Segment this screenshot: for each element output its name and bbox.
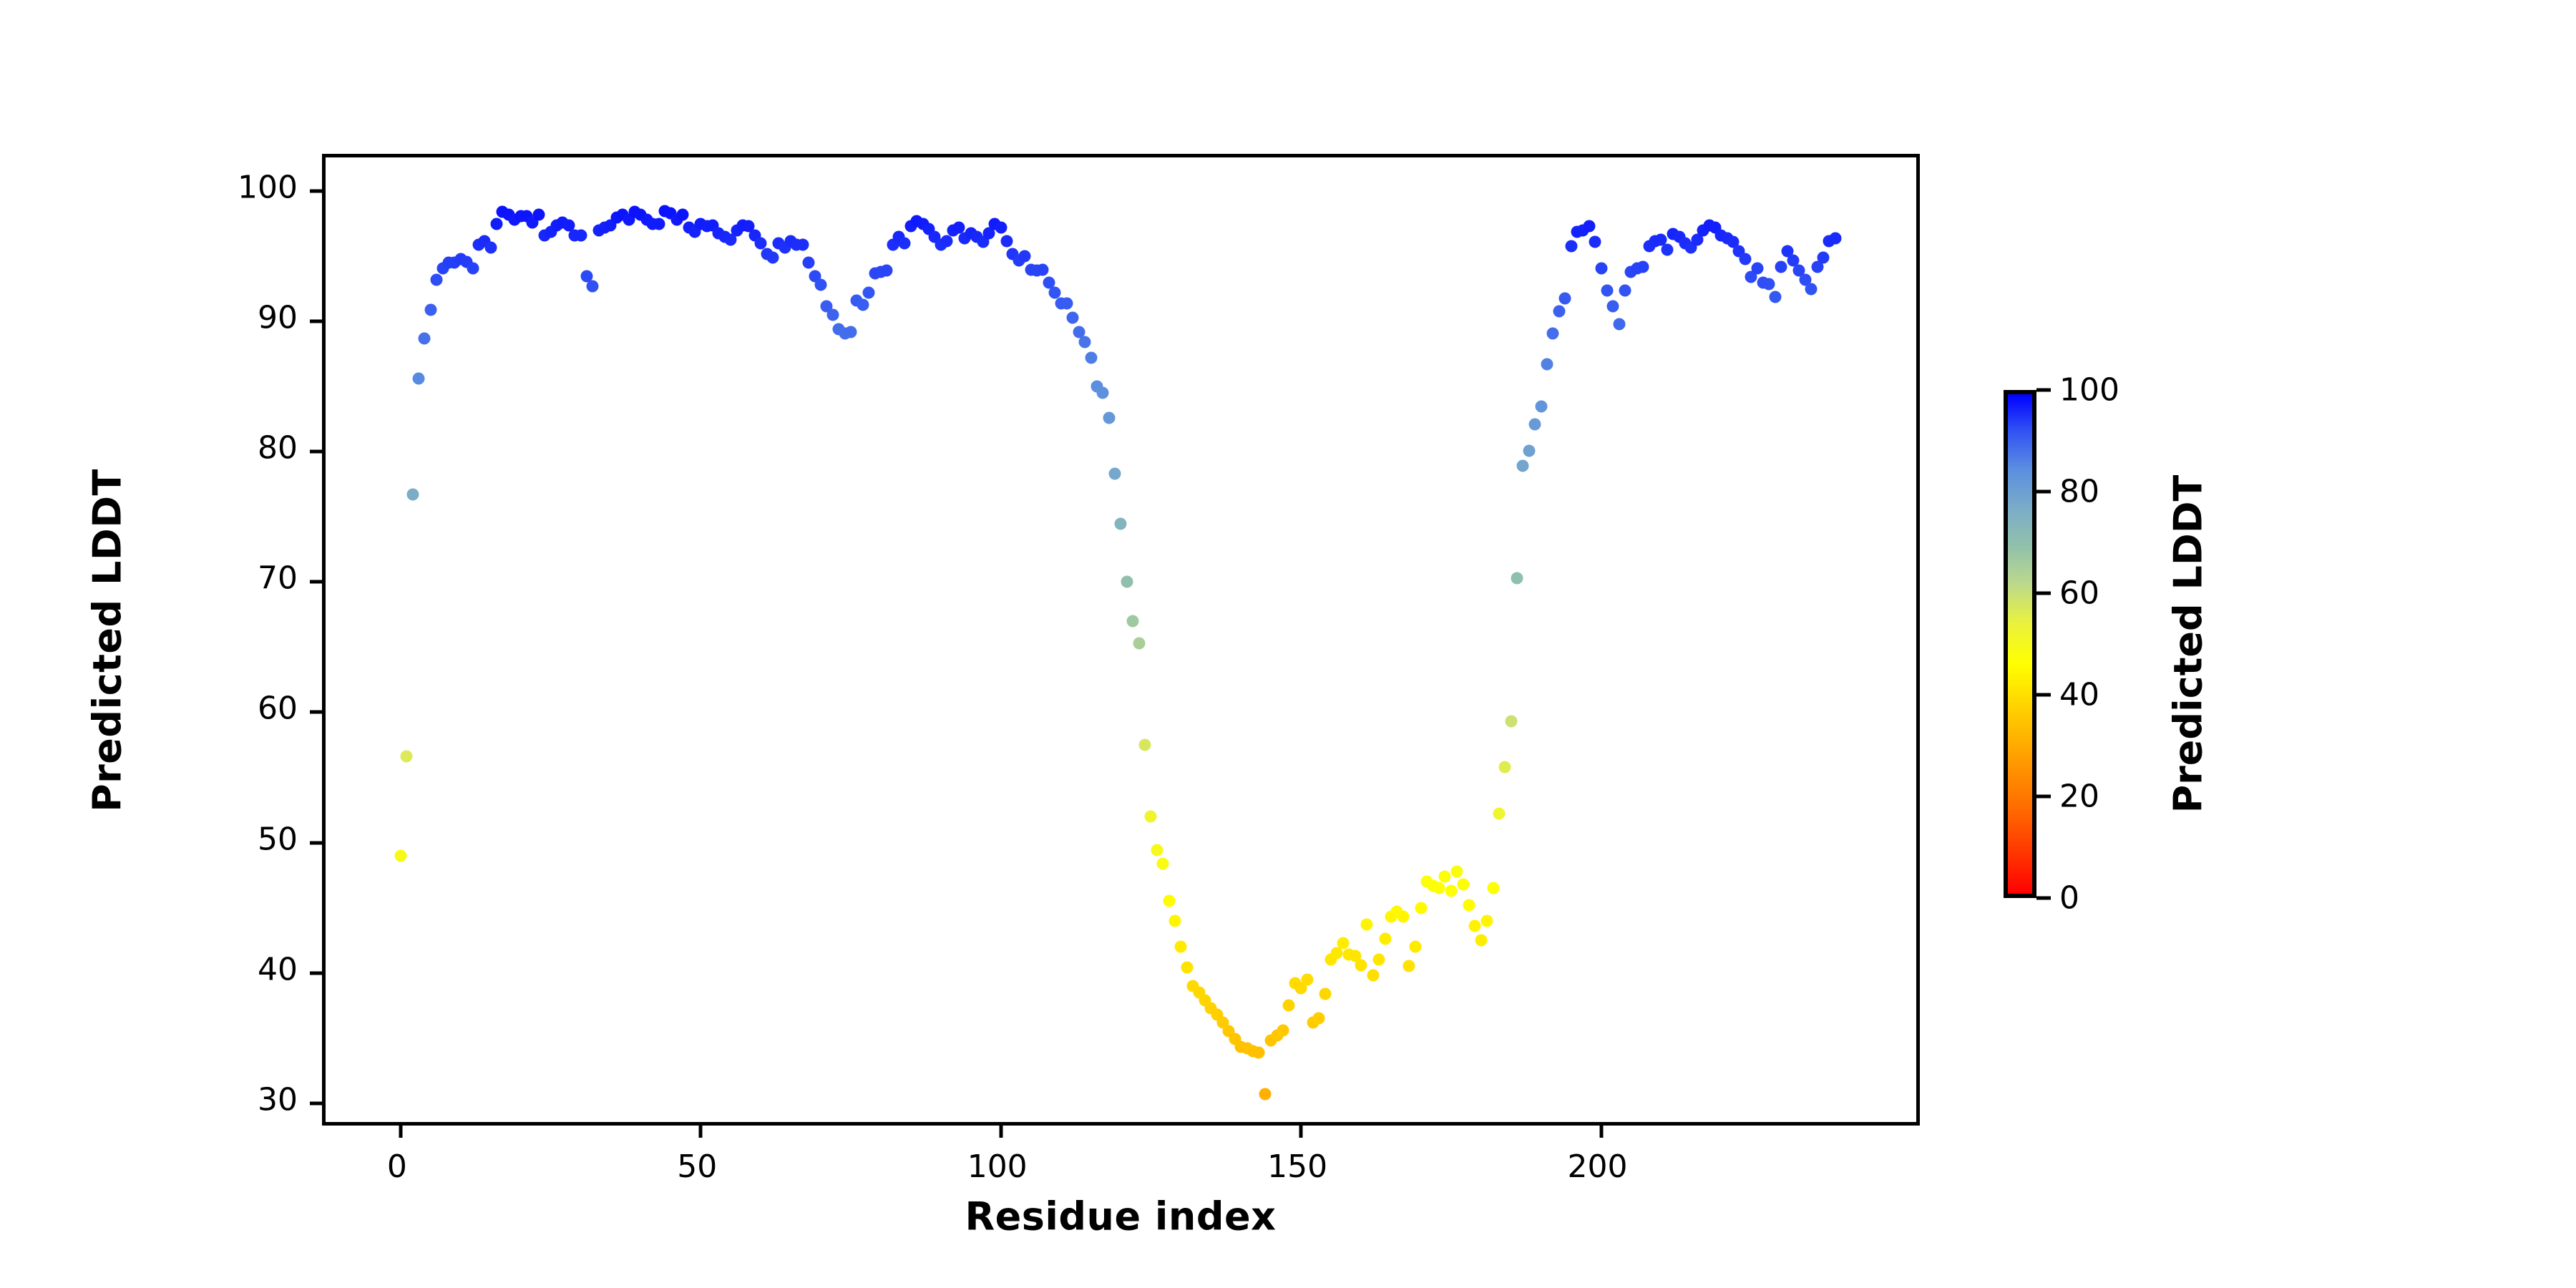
scatter-point: [401, 751, 413, 763]
scatter-point: [1181, 962, 1193, 974]
scatter-point: [815, 279, 827, 291]
scatter-point: [1583, 220, 1595, 233]
scatter-point: [857, 298, 869, 311]
y-tick-mark: [310, 580, 326, 584]
scatter-point: [1403, 960, 1415, 972]
colorbar-tick-mark: [2036, 592, 2051, 595]
scatter-point: [1037, 263, 1049, 275]
scatter-point: [1373, 954, 1385, 966]
scatter-point: [491, 218, 503, 230]
scatter-point: [1505, 716, 1517, 728]
scatter-point: [484, 241, 497, 253]
scatter-point: [1751, 262, 1763, 274]
colorbar-tick-mark: [2036, 795, 2051, 799]
scatter-point: [803, 257, 815, 269]
scatter-point: [1805, 283, 1818, 295]
y-tick-mark: [310, 450, 326, 454]
y-tick-label: 30: [258, 1081, 298, 1118]
scatter-point: [419, 333, 431, 345]
scatter-point: [1481, 914, 1493, 927]
scatter-point: [1499, 761, 1511, 773]
plot-axes-frame: [322, 154, 1920, 1126]
colorbar-tick-label: 80: [2059, 474, 2099, 510]
scatter-point: [1253, 1046, 1265, 1058]
scatter-point: [1331, 947, 1343, 960]
colorbar-gradient: [2004, 390, 2036, 898]
scatter-points-layer: [326, 157, 1916, 1122]
scatter-point: [826, 309, 839, 321]
scatter-point: [1415, 902, 1427, 914]
scatter-point: [1601, 284, 1613, 296]
scatter-point: [1313, 1013, 1325, 1025]
y-tick-mark: [310, 971, 326, 975]
scatter-point: [1763, 278, 1775, 290]
y-tick-mark: [310, 711, 326, 714]
y-tick-mark: [310, 1101, 326, 1105]
scatter-point: [995, 222, 1007, 234]
colorbar-tick-label: 60: [2059, 575, 2099, 612]
scatter-point: [1475, 935, 1487, 947]
y-tick-label: 50: [258, 821, 298, 857]
y-tick-label: 90: [258, 300, 298, 336]
scatter-point: [1283, 1000, 1295, 1012]
scatter-point: [1565, 240, 1577, 252]
colorbar-tick-mark: [2036, 490, 2051, 494]
scatter-point: [1409, 941, 1421, 953]
scatter-point: [1595, 262, 1607, 274]
scatter-point: [532, 209, 545, 221]
colorbar-tick-mark: [2036, 693, 2051, 697]
scatter-point: [1121, 576, 1133, 588]
scatter-point: [413, 373, 425, 385]
scatter-point: [1103, 412, 1115, 424]
y-tick-mark: [310, 841, 326, 844]
scatter-point: [677, 209, 689, 221]
y-tick-mark: [310, 190, 326, 193]
x-tick-mark: [699, 1122, 703, 1138]
scatter-point: [653, 218, 665, 230]
y-tick-label: 60: [258, 691, 298, 727]
y-tick-label: 80: [258, 430, 298, 467]
scatter-point: [1361, 919, 1373, 931]
colorbar-tick-mark: [2036, 897, 2051, 900]
scatter-point: [796, 238, 809, 250]
scatter-point: [1277, 1024, 1289, 1036]
scatter-point: [1151, 844, 1163, 857]
scatter-point: [1523, 444, 1535, 457]
colorbar-tick-label: 0: [2059, 880, 2079, 917]
x-tick-label: 200: [1568, 1148, 1628, 1185]
x-tick-mark: [399, 1122, 402, 1138]
scatter-point: [1493, 808, 1505, 820]
scatter-point: [1319, 987, 1331, 1000]
scatter-point: [1775, 260, 1787, 273]
scatter-point: [1613, 318, 1625, 331]
scatter-point: [1085, 352, 1097, 364]
scatter-point: [1175, 941, 1187, 953]
scatter-point: [1397, 911, 1409, 923]
scatter-point: [1097, 387, 1109, 399]
scatter-point: [1517, 460, 1529, 472]
x-tick-label: 50: [677, 1148, 717, 1185]
scatter-point: [1127, 615, 1139, 628]
scatter-point: [1145, 811, 1157, 823]
scatter-point: [1115, 517, 1127, 530]
scatter-point: [1619, 284, 1631, 296]
figure-canvas: 30405060708090100 050100150200 Predicted…: [0, 0, 2576, 1288]
scatter-point: [1157, 857, 1169, 869]
scatter-point: [1661, 244, 1673, 256]
colorbar-tick-label: 100: [2059, 372, 2119, 409]
scatter-point: [1487, 882, 1499, 894]
scatter-point: [1547, 327, 1559, 339]
scatter-point: [1067, 311, 1079, 323]
scatter-point: [1637, 260, 1649, 273]
scatter-point: [406, 489, 419, 501]
colorbar-tick-mark: [2036, 389, 2051, 392]
y-tick-mark: [310, 320, 326, 323]
scatter-point: [1337, 937, 1349, 949]
y-tick-label: 40: [258, 951, 298, 987]
scatter-point: [1060, 297, 1073, 309]
scatter-point: [1259, 1088, 1271, 1100]
y-axis-label: Predicted LDDT: [85, 469, 130, 812]
scatter-point: [1301, 973, 1313, 985]
scatter-point: [1553, 305, 1565, 317]
scatter-point: [1511, 572, 1523, 584]
y-tick-label: 100: [238, 170, 298, 206]
x-tick-mark: [1599, 1122, 1603, 1138]
scatter-point: [1589, 236, 1601, 248]
x-tick-label: 0: [387, 1148, 407, 1185]
x-tick-mark: [1299, 1122, 1303, 1138]
scatter-point: [431, 274, 443, 286]
colorbar-label: Predicted LDDT: [2166, 475, 2211, 814]
scatter-point: [863, 287, 875, 299]
scatter-point: [1133, 638, 1145, 650]
scatter-point: [394, 849, 406, 862]
scatter-point: [1739, 253, 1751, 265]
x-tick-label: 100: [967, 1148, 1028, 1185]
y-tick-label: 70: [258, 560, 298, 597]
scatter-point: [467, 262, 479, 274]
scatter-point: [1445, 884, 1457, 897]
scatter-point: [1433, 882, 1445, 894]
scatter-point: [941, 235, 953, 247]
scatter-point: [587, 280, 599, 293]
scatter-point: [1439, 870, 1451, 882]
scatter-point: [1139, 738, 1151, 751]
scatter-point: [1367, 970, 1379, 982]
scatter-point: [1535, 400, 1547, 412]
scatter-point: [1451, 865, 1463, 877]
scatter-point: [1469, 920, 1481, 932]
scatter-point: [1607, 300, 1619, 312]
scatter-point: [1529, 419, 1541, 431]
scatter-point: [1817, 252, 1829, 264]
scatter-point: [1163, 895, 1175, 907]
scatter-point: [1559, 292, 1571, 304]
scatter-point: [1109, 468, 1121, 480]
scatter-point: [1457, 878, 1469, 890]
scatter-point: [844, 326, 857, 338]
scatter-point: [1379, 933, 1391, 945]
scatter-point: [1355, 959, 1367, 971]
x-axis-label: Residue index: [965, 1194, 1277, 1239]
colorbar-tick-label: 20: [2059, 779, 2099, 815]
scatter-point: [1769, 291, 1781, 303]
scatter-point: [1829, 232, 1841, 244]
x-tick-label: 150: [1267, 1148, 1327, 1185]
scatter-point: [1463, 899, 1475, 911]
scatter-point: [881, 265, 893, 277]
scatter-point: [1169, 914, 1181, 927]
scatter-point: [1001, 235, 1013, 247]
scatter-point: [1541, 358, 1553, 371]
scatter-point: [575, 230, 587, 242]
scatter-point: [899, 238, 911, 250]
scatter-point: [1079, 336, 1091, 348]
x-tick-mark: [999, 1122, 1002, 1138]
scatter-point: [424, 303, 436, 316]
scatter-point: [1019, 250, 1031, 263]
colorbar-tick-label: 40: [2059, 677, 2099, 713]
scatter-point: [766, 252, 779, 264]
